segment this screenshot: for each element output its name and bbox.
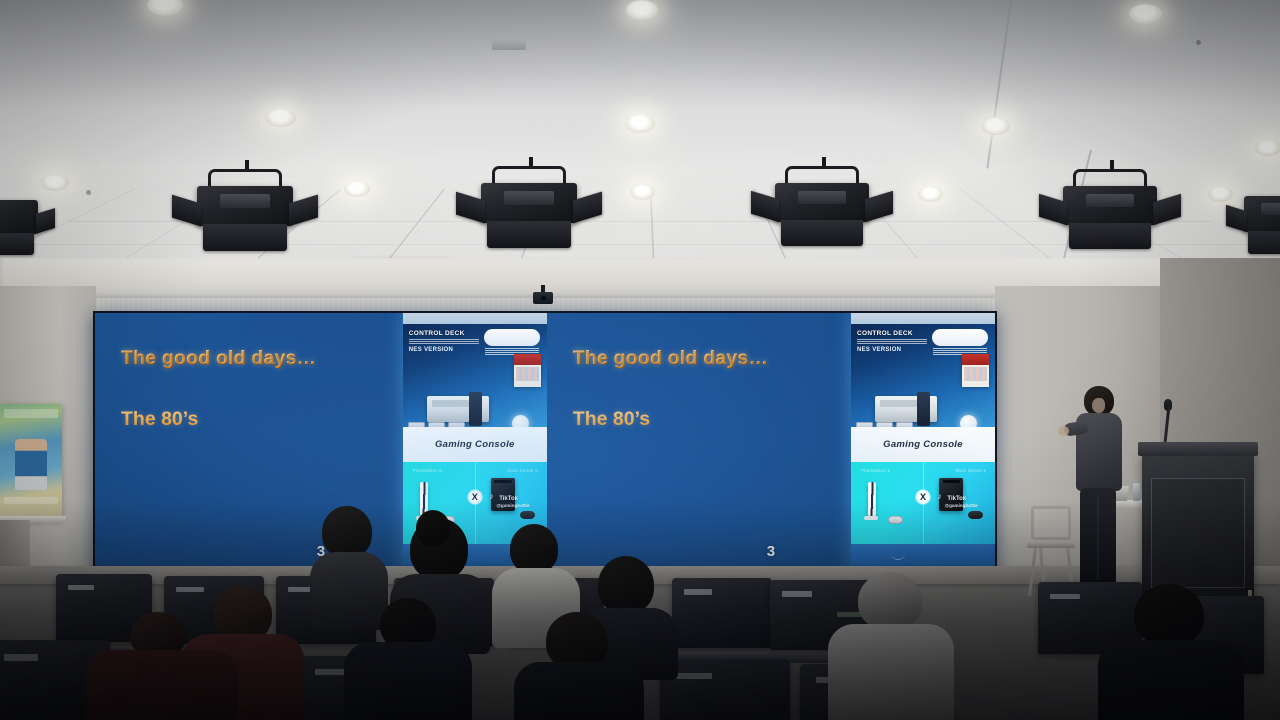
tiktok-watermark: TikTok — [490, 495, 518, 503]
ceiling-camera-icon — [533, 292, 553, 304]
lecture-hall-scene: The good old days… The 80’s 3 CONTROL DE… — [0, 0, 1280, 720]
ceiling-downlight — [918, 186, 943, 202]
water-bottle — [1133, 483, 1140, 501]
podium-panel — [1151, 478, 1245, 588]
panel-topbar — [403, 313, 547, 324]
barn-door-bottom — [487, 221, 571, 247]
ps5-controller — [888, 516, 903, 524]
stage-light-lens — [1261, 203, 1280, 215]
barn-door-bottom — [781, 220, 864, 246]
poster-figure — [15, 439, 47, 490]
stage-light-lens — [504, 191, 554, 205]
wall-poster — [0, 404, 62, 520]
ps5-stand — [864, 516, 878, 520]
audience-member — [100, 612, 226, 720]
person-head — [322, 506, 372, 558]
ceiling-downlight — [41, 174, 69, 191]
barn-door-bottom — [0, 233, 34, 255]
slide-title: The good old days… — [121, 347, 403, 370]
slide-subtitle: The 80’s — [573, 408, 851, 431]
audience-member — [836, 572, 942, 720]
person-head — [1134, 584, 1204, 646]
tiktok-handle: @gamingbattle — [945, 503, 978, 508]
stage-light — [197, 186, 293, 226]
audience-member — [410, 510, 456, 570]
nes-version-label: NES VERSION — [409, 347, 453, 353]
nes-version-label: NES VERSION — [857, 347, 901, 353]
panel-topbar — [851, 313, 995, 324]
person-head — [416, 510, 450, 546]
slide-right: The good old days… The 80’s 3 CONTROL DE… — [547, 313, 995, 572]
gaming-console-label: Gaming Console — [883, 439, 963, 450]
tiktok-handle: @gamingbattle — [496, 503, 529, 508]
ceiling-downlight — [981, 117, 1010, 135]
slide-right-text: The good old days… The 80’s — [547, 313, 851, 572]
chair-leg — [1028, 548, 1037, 596]
stage-light — [1244, 196, 1280, 232]
stage-light-body — [197, 186, 293, 226]
slide-image-panel: CONTROL DECK NES VERSION — [851, 313, 995, 572]
ceiling-downlight — [625, 114, 655, 133]
barn-door-bottom — [203, 224, 287, 250]
stage-light-body — [1244, 196, 1280, 232]
poster-band — [4, 409, 59, 418]
ceiling-downlight — [626, 0, 658, 20]
person-body — [344, 642, 472, 720]
barn-door-bottom — [1248, 231, 1280, 255]
ceiling-downlight — [1255, 140, 1280, 156]
stage-light — [1063, 186, 1157, 225]
stage-light-body — [1063, 186, 1157, 225]
control-deck-subtext — [409, 338, 479, 344]
music-note-icon — [938, 495, 945, 503]
panel-pill-badge — [932, 329, 988, 346]
control-deck-label: CONTROL DECK — [409, 330, 465, 337]
gaming-console-banner: Gaming Console — [851, 427, 995, 462]
presenter-legs — [1080, 488, 1116, 588]
person-head — [510, 524, 558, 574]
ceiling-fixture-dot — [86, 190, 91, 195]
stage-light-lens — [798, 191, 847, 204]
xbox-controller — [520, 511, 535, 519]
nes-controller-stack — [917, 392, 930, 426]
audience-member — [520, 612, 634, 720]
ps5-console — [868, 482, 876, 516]
left-console-caption: PlayStation 5 — [413, 468, 442, 473]
music-note-icon — [490, 495, 497, 503]
tiktok-label: TikTok — [499, 496, 518, 502]
audience-member — [1110, 584, 1230, 720]
poster-band — [4, 497, 59, 504]
gaming-console-banner: Gaming Console — [403, 427, 547, 462]
presenter — [1070, 386, 1132, 598]
podium — [1142, 452, 1254, 600]
console-comparison: PlayStation 5 Xbox Series X X TikTok @ga… — [851, 462, 995, 544]
person-head — [858, 572, 922, 630]
control-deck-label: CONTROL DECK — [857, 330, 913, 337]
ceiling-access-plate — [492, 39, 526, 50]
panel-pill-badge — [484, 329, 540, 346]
versus-x-icon: X — [467, 489, 483, 505]
right-console-caption: Xbox Series X — [955, 468, 986, 473]
game-box-illustration — [964, 367, 987, 382]
tiktok-label: TikTok — [947, 496, 966, 502]
ceiling-downlight — [1208, 186, 1233, 202]
stage-light-body — [775, 183, 869, 222]
tiktok-watermark: TikTok — [938, 495, 966, 503]
stage-light-body — [481, 183, 577, 223]
slide-subtitle: The 80’s — [121, 408, 403, 431]
game-box-art — [514, 354, 541, 387]
person-body — [514, 662, 644, 720]
person-body — [1098, 640, 1244, 720]
game-box-illustration — [516, 367, 539, 382]
game-box-header — [962, 354, 989, 365]
ceiling-downlight — [344, 181, 370, 197]
game-box-header — [514, 354, 541, 365]
game-box-art — [962, 354, 989, 387]
versus-x-icon: X — [915, 489, 931, 505]
seat — [660, 660, 790, 720]
xbox-controller — [968, 511, 983, 519]
stage-light-body — [0, 200, 38, 234]
podium-top — [1138, 442, 1258, 456]
stage-light — [775, 183, 869, 222]
audience-member — [352, 598, 462, 720]
person-body — [86, 650, 238, 720]
stage-light — [0, 200, 38, 234]
presenter-head — [1084, 386, 1114, 416]
stage-light-lens — [220, 194, 270, 208]
presenter-hand — [1058, 426, 1069, 436]
left-console-caption: PlayStation 5 — [861, 468, 890, 473]
ceiling-downlight — [265, 108, 296, 127]
nes-product-shot: CONTROL DECK NES VERSION — [851, 324, 995, 438]
person-head — [598, 556, 654, 614]
stage-light-lens — [1086, 194, 1135, 207]
ceiling — [0, 0, 1280, 272]
person-body — [828, 624, 954, 720]
right-console-caption: Xbox Series X — [507, 468, 538, 473]
ceiling-downlight — [1129, 4, 1162, 24]
slide-number: 3 — [767, 543, 775, 560]
nes-controller-stack — [469, 392, 482, 426]
ceiling-fixture-dot — [1196, 40, 1201, 45]
control-deck-subtext — [857, 338, 927, 344]
stage-light — [481, 183, 577, 223]
nes-product-shot: CONTROL DECK NES VERSION — [403, 324, 547, 438]
chair-back — [1031, 506, 1071, 540]
ceiling-downlight — [630, 184, 655, 200]
presenter-face — [1092, 398, 1105, 413]
gaming-console-label: Gaming Console — [435, 439, 515, 450]
slide-title: The good old days… — [573, 347, 851, 370]
seat — [672, 578, 772, 648]
barn-door-bottom — [1069, 223, 1152, 249]
